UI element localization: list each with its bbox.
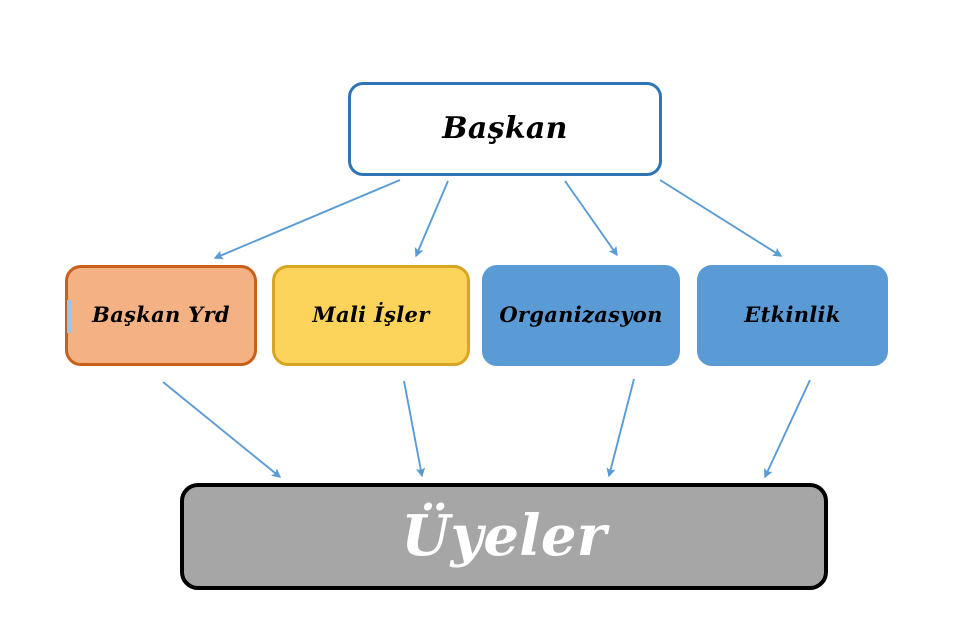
node-etkinlik-label: Etkinlik — [744, 304, 840, 326]
connector-organizasyon-to-uyeler — [609, 379, 634, 476]
organization-chart-canvas: Başkan Başkan Yrd Mali İşler Organizasyo… — [0, 0, 954, 628]
node-etkinlik[interactable]: Etkinlik — [697, 265, 888, 366]
node-uyeler[interactable]: Üyeler — [180, 483, 828, 590]
node-uyeler-label: Üyeler — [401, 507, 606, 566]
connector-baskan-to-etkinlik — [660, 180, 781, 256]
node-baskan-yrd[interactable]: Başkan Yrd — [65, 265, 257, 366]
connector-baskan-to-baskan-yrd — [215, 180, 400, 258]
node-baskan-yrd-label: Başkan Yrd — [92, 304, 230, 326]
connector-baskan-yrd-to-uyeler — [163, 382, 280, 477]
node-mali-isler-label: Mali İşler — [312, 304, 429, 326]
node-organizasyon[interactable]: Organizasyon — [482, 265, 680, 366]
selection-handle-artifact — [67, 300, 71, 333]
node-baskan-label: Başkan — [442, 113, 568, 145]
connector-mali-isler-to-uyeler — [404, 381, 422, 476]
connector-baskan-to-mali-isler — [416, 181, 448, 256]
connector-baskan-to-organizasyon — [565, 181, 617, 255]
connector-etkinlik-to-uyeler — [765, 380, 810, 477]
node-mali-isler[interactable]: Mali İşler — [272, 265, 470, 366]
node-baskan[interactable]: Başkan — [348, 82, 662, 176]
node-organizasyon-label: Organizasyon — [499, 304, 662, 326]
